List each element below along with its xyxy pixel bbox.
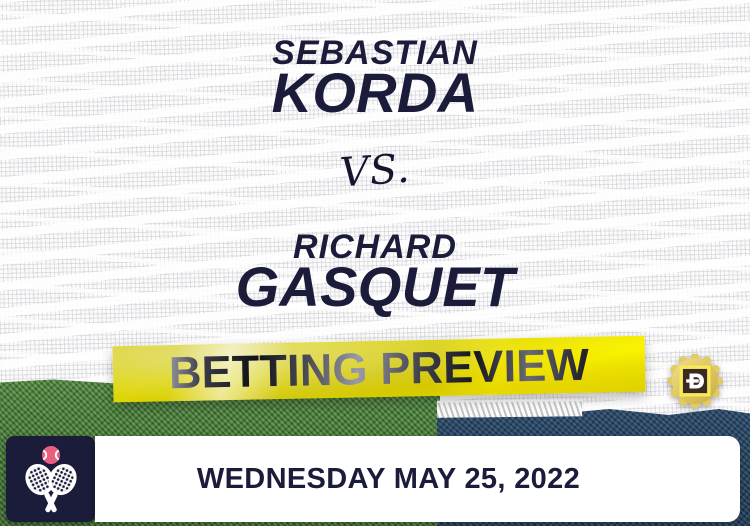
match-date-text: WEDNESDAY MAY 25, 2022	[197, 463, 638, 496]
gold-seal-badge	[668, 354, 722, 408]
player2-last-name: GASQUET	[0, 258, 750, 315]
crossed-tennis-rackets-icon	[13, 443, 89, 515]
tennis-ball	[42, 446, 60, 464]
court-white-line	[437, 401, 582, 418]
sport-icon-tile	[6, 436, 95, 522]
match-date-bar: WEDNESDAY MAY 25, 2022	[95, 436, 740, 522]
player1-last-name: KORDA	[0, 64, 750, 121]
betting-preview-banner: BETTING PREVIEW	[112, 336, 645, 403]
betting-preview-label: BETTING PREVIEW	[112, 336, 645, 403]
betting-preview-graphic: SEBASTIAN KORDA VS. RICHARD GASQUET BETT…	[0, 0, 750, 526]
